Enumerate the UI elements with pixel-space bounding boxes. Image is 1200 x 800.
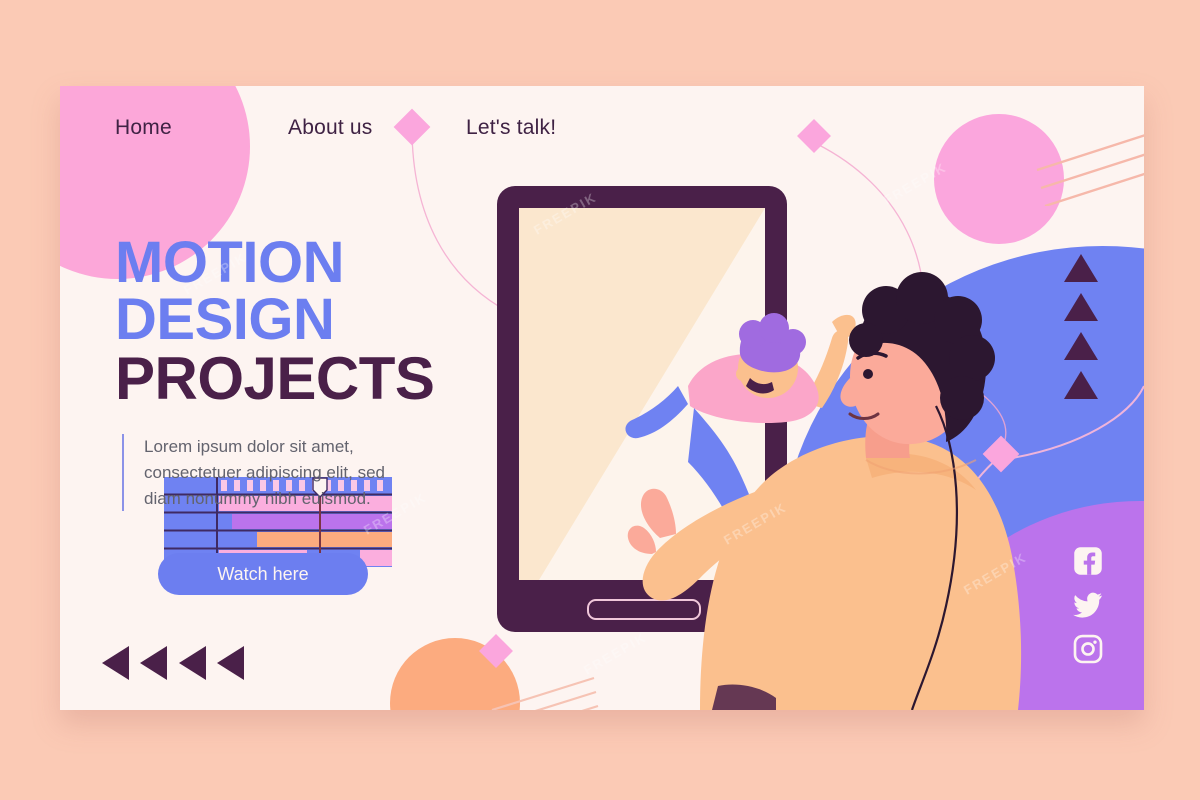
screen-glow-decor [519,208,765,580]
watermark: FREEPIK [581,629,649,677]
heading-line-motion: MOTION [115,234,545,291]
triangle-up-icon [1064,254,1098,282]
landing-card: Home About us Let's talk! MOTION DESIGN … [60,86,1144,710]
arrow-left-icon [179,646,206,680]
arrow-left-icon [140,646,167,680]
instagram-icon[interactable] [1073,634,1103,664]
triangle-up-icon [1064,293,1098,321]
hero-paragraph: Lorem ipsum dolor sit amet, consectetuer… [144,434,394,511]
up-triangle-group [1064,254,1098,410]
facebook-icon[interactable] [1073,546,1103,576]
nav-item-lets-talk[interactable]: Let's talk! [466,116,556,140]
left-arrow-group [102,646,251,685]
home-indicator[interactable] [587,599,701,620]
page-root: Home About us Let's talk! MOTION DESIGN … [0,0,1200,800]
speed-lines-orange-decor [490,676,600,710]
hero-paragraph-block: Lorem ipsum dolor sit amet, consectetuer… [122,434,394,511]
triangle-up-icon [1064,371,1098,399]
tablet-screen [519,208,765,580]
heading-line-design: DESIGN [115,291,545,348]
main-nav: Home About us Let's talk! [60,116,1144,156]
heading-line-projects: PROJECTS [115,349,545,408]
twitter-icon[interactable] [1073,592,1103,618]
watch-here-button[interactable]: Watch here [158,553,368,595]
arrow-left-icon [217,646,244,680]
triangle-up-icon [1064,332,1098,360]
nav-item-about-us[interactable]: About us [288,116,373,140]
arrow-left-icon [102,646,129,680]
nav-item-home[interactable]: Home [115,116,172,140]
social-links [1073,546,1103,664]
hero-heading: MOTION DESIGN PROJECTS [115,234,545,408]
